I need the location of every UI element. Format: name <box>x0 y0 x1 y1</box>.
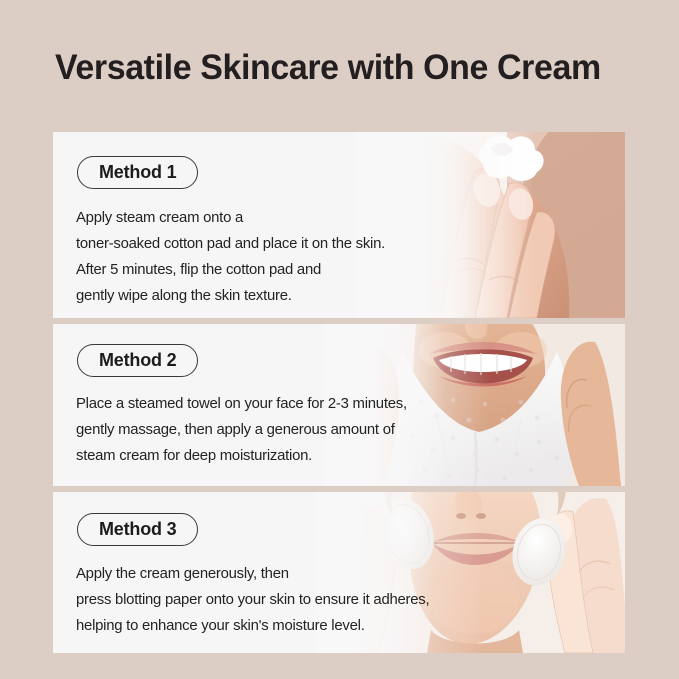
method-3-line-3: helping to enhance your skin's moisture … <box>76 613 429 639</box>
method-2-line-3: steam cream for deep moisturization. <box>76 443 407 469</box>
method-1-badge: Method 1 <box>77 156 198 189</box>
method-card-2: Method 2 Place a steamed towel on your f… <box>53 324 625 486</box>
method-1-line-1: Apply steam cream onto a <box>76 205 385 231</box>
method-2-line-1: Place a steamed towel on your face for 2… <box>76 391 407 417</box>
method-3-line-1: Apply the cream generously, then <box>76 561 429 587</box>
method-3-body: Apply the cream generously, then press b… <box>76 561 437 639</box>
page-title: Versatile Skincare with One Cream <box>55 46 618 94</box>
skincare-infographic-poster: Versatile Skincare with One Cream <box>0 0 679 679</box>
method-1-line-3: After 5 minutes, flip the cotton pad and <box>76 257 385 283</box>
method-1-line-2: toner-soaked cotton pad and place it on … <box>76 231 385 257</box>
method-3-badge: Method 3 <box>77 513 198 546</box>
method-2-line-2: gently massage, then apply a generous am… <box>76 417 407 443</box>
method-3-line-2: press blotting paper onto your skin to e… <box>76 587 429 613</box>
method-card-3: Method 3 Apply the cream generously, the… <box>53 492 625 653</box>
method-2-body: Place a steamed towel on your face for 2… <box>76 391 414 469</box>
method-1-photo <box>357 132 625 318</box>
woman-applying-cream-illustration <box>357 132 625 318</box>
method-1-body: Apply steam cream onto a toner-soaked co… <box>76 205 391 309</box>
method-2-badge: Method 2 <box>77 344 198 377</box>
method-card-1: Method 1 Apply steam cream onto a toner-… <box>53 132 625 318</box>
method-1-line-4: gently wipe along the skin texture. <box>76 283 385 309</box>
method-card-list: Method 1 Apply steam cream onto a toner-… <box>53 132 625 653</box>
